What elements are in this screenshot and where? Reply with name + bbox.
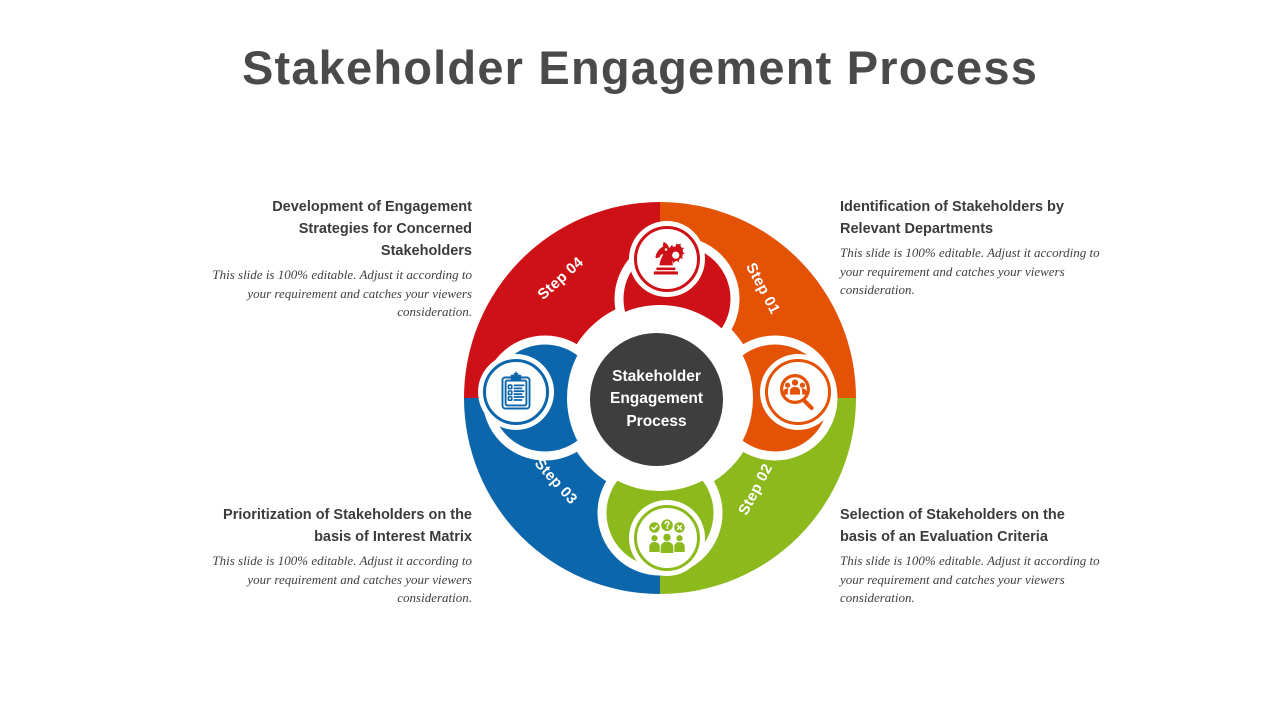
badge-step03[interactable] [478, 354, 554, 430]
center-hub-label: Stakeholder Engagement Process [610, 366, 703, 433]
caption-body-step01: This slide is 100% editable. Adjust it a… [840, 244, 1102, 299]
caption-body-step03: This slide is 100% editable. Adjust it a… [210, 552, 472, 607]
caption-title-step03: Prioritization of Stakeholders on the ba… [210, 504, 472, 548]
chess-knight-gear-icon [645, 237, 689, 281]
people-magnifier-icon [776, 370, 820, 414]
slide-canvas: Stakeholder Engagement Process [0, 0, 1280, 720]
caption-title-step01: Identification of Stakeholders by Releva… [840, 196, 1102, 240]
caption-step02: Selection of Stakeholders on the basis o… [840, 504, 1102, 607]
caption-step04: Development of Engagement Strategies for… [210, 196, 472, 321]
caption-step01: Identification of Stakeholders by Releva… [840, 196, 1102, 299]
caption-title-step04: Development of Engagement Strategies for… [210, 196, 472, 262]
caption-title-step02: Selection of Stakeholders on the basis o… [840, 504, 1102, 548]
page-title: Stakeholder Engagement Process [0, 40, 1280, 95]
caption-body-step02: This slide is 100% editable. Adjust it a… [840, 552, 1102, 607]
caption-body-step04: This slide is 100% editable. Adjust it a… [210, 266, 472, 321]
badge-step02[interactable] [629, 500, 705, 576]
center-hub[interactable]: Stakeholder Engagement Process [590, 333, 723, 466]
people-evaluation-icon [645, 516, 689, 560]
clipboard-checklist-icon [494, 370, 538, 414]
badge-step04[interactable] [629, 221, 705, 297]
caption-step03: Prioritization of Stakeholders on the ba… [210, 504, 472, 607]
badge-step01[interactable] [760, 354, 836, 430]
